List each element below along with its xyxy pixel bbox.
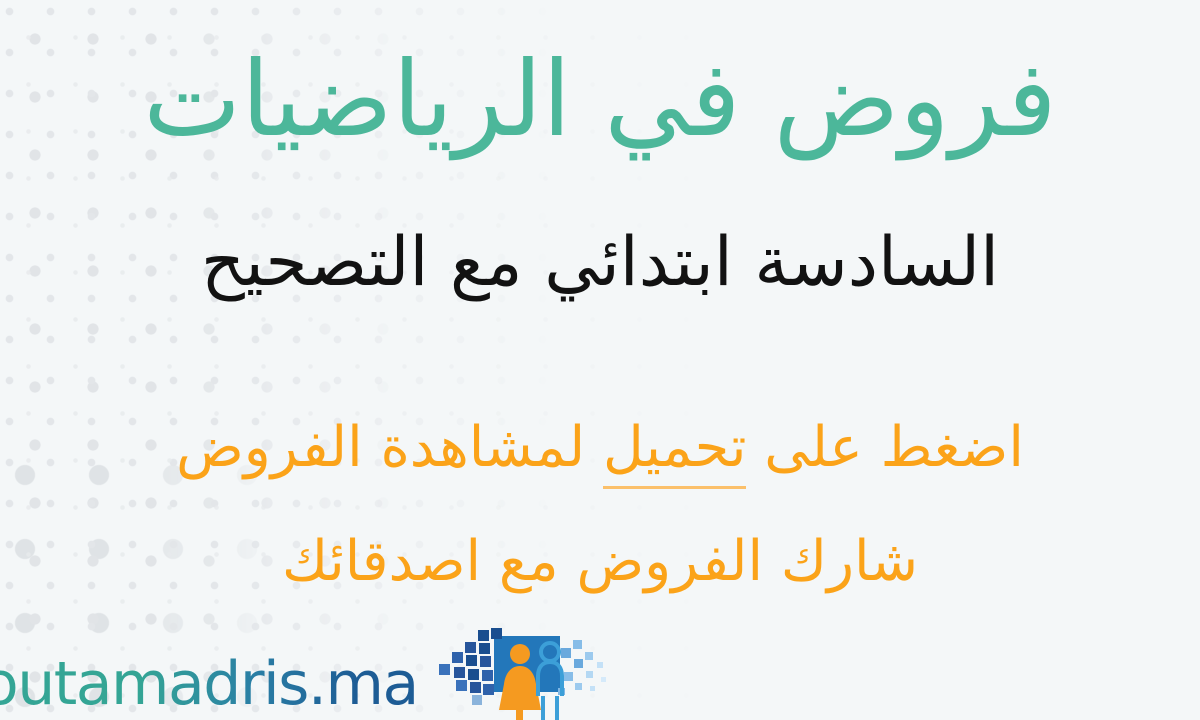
banner-canvas: فروض في الرياضيات السادسة ابتدائي مع الت…: [0, 0, 1200, 720]
cta-share-line: شارك الفروض مع اصدقائك: [0, 528, 1200, 595]
cta-download-line: اضغط على تحميل لمشاهدة الفروض: [0, 414, 1200, 481]
site-logo[interactable]: outamadris.ma: [0, 626, 612, 718]
banner-headline: فروض في الرياضيات: [0, 38, 1200, 161]
banner-content: فروض في الرياضيات السادسة ابتدائي مع الت…: [0, 0, 1200, 720]
e-learning-pixel-figures-icon: [422, 626, 612, 720]
download-link[interactable]: تحميل: [603, 415, 746, 489]
banner-subheadline: السادسة ابتدائي مع التصحيح: [0, 222, 1200, 304]
logo-wordmark: outamadris.ma: [0, 654, 418, 718]
cta-text-after: لمشاهدة الفروض: [176, 415, 603, 480]
cta-text-before: اضغط على: [746, 415, 1024, 480]
